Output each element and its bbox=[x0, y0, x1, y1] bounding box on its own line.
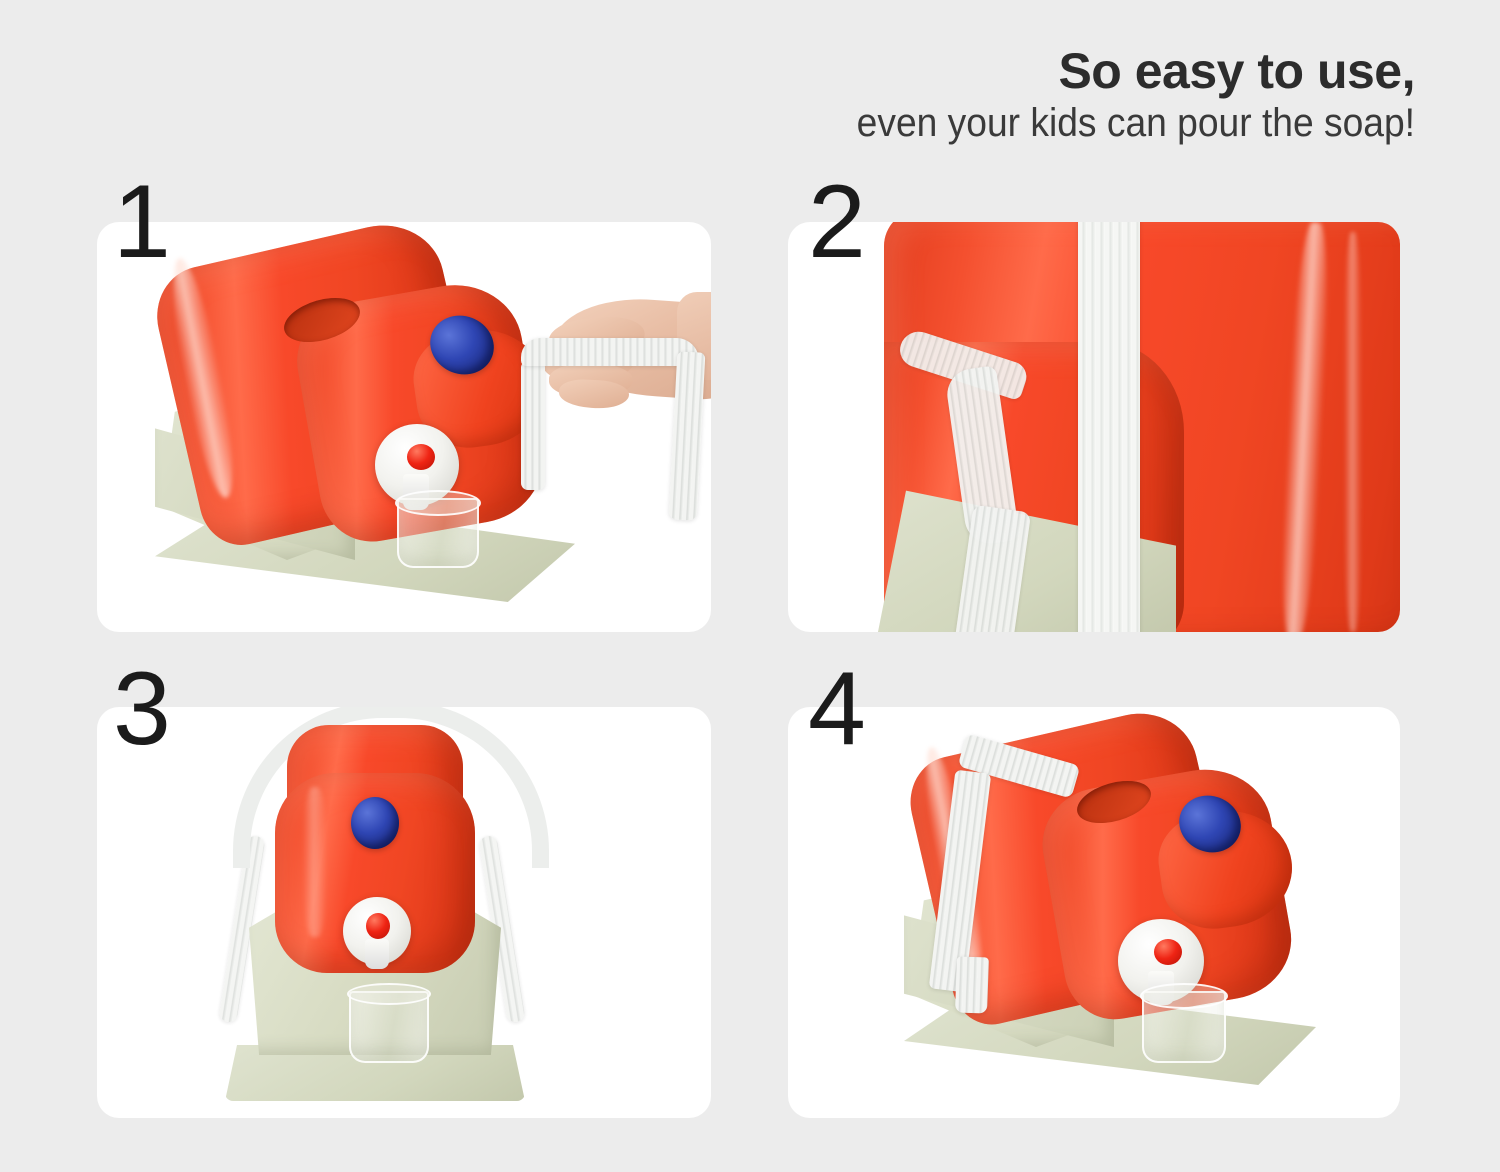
step-card-4 bbox=[788, 707, 1400, 1118]
spigot-spout-front bbox=[365, 939, 389, 969]
white-strap-secured-end bbox=[955, 956, 989, 1013]
white-strap-left-tail bbox=[521, 362, 545, 490]
white-strap-vertical bbox=[1078, 222, 1140, 632]
header: So easy to use, even your kids can pour … bbox=[515, 46, 1415, 146]
step-3-illustration bbox=[97, 707, 711, 1118]
step-number-1: 1 bbox=[113, 170, 171, 274]
infographic-page: So easy to use, even your kids can pour … bbox=[0, 0, 1500, 1172]
spigot-button-4 bbox=[1154, 939, 1182, 965]
step-number-2: 2 bbox=[808, 170, 866, 274]
step-2-illustration bbox=[788, 222, 1400, 632]
step-number-4: 4 bbox=[808, 657, 866, 761]
jug-highlight-edge bbox=[1344, 232, 1362, 632]
cup-rim bbox=[395, 490, 481, 516]
step-card-1 bbox=[97, 222, 711, 632]
step-1-illustration bbox=[97, 222, 711, 632]
step-card-2 bbox=[788, 222, 1400, 632]
step-4-illustration bbox=[788, 707, 1400, 1118]
spigot-button-front bbox=[366, 913, 390, 939]
spigot-button bbox=[407, 444, 435, 470]
blue-cap-front bbox=[351, 797, 399, 849]
step-number-3: 3 bbox=[113, 657, 171, 761]
white-strap-arch bbox=[521, 338, 699, 366]
subheadline: even your kids can pour the soap! bbox=[578, 101, 1415, 146]
headline: So easy to use, bbox=[515, 46, 1415, 97]
cup-rim-4 bbox=[1140, 983, 1228, 1009]
jug-highlight-front bbox=[303, 787, 327, 937]
step-card-3 bbox=[97, 707, 711, 1118]
cup-rim-front bbox=[347, 983, 431, 1005]
